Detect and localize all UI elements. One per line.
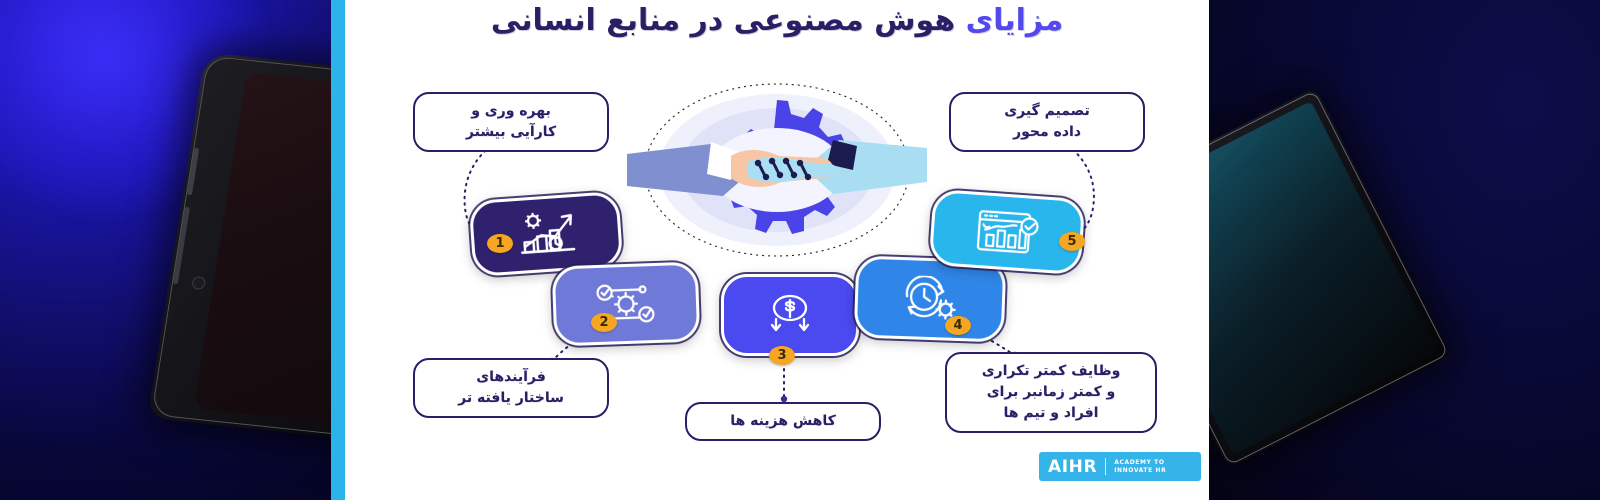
logo-divider: [1105, 458, 1106, 475]
logo-tagline-line-1: ACADEMY TO: [1114, 459, 1166, 467]
logo-tagline-line-2: INNOVATE HR: [1114, 467, 1166, 475]
callout-bubble-3[interactable]: فرآیندهای ساختار یافته تر: [413, 358, 609, 418]
bubble-1-line-1: بهره وری و: [425, 101, 597, 122]
badge-4: 4: [945, 316, 971, 335]
title-rest: هوش مصنوعی در منابع انسانی: [491, 3, 955, 38]
logo-tagline: ACADEMY TO INNOVATE HR: [1114, 459, 1166, 475]
bubble-4-line-1: کاهش هزینه ها: [697, 411, 869, 432]
badge-5: 5: [1059, 232, 1085, 251]
badge-2: 2: [591, 313, 617, 332]
cyan-divider: [331, 0, 345, 500]
hexagon-tile-2[interactable]: [552, 261, 701, 346]
infographic-canvas: BAmv Tim H مزایای هوش مصنوعی در منابع ان…: [0, 0, 1600, 500]
callout-bubble-1[interactable]: بهره وری و کارآیی بیشتر: [413, 92, 609, 152]
tablet-device: [1209, 88, 1451, 469]
growth-chart-gear-icon: [513, 209, 578, 259]
bubble-3-line-2: ساختار یافته تر: [425, 388, 597, 409]
bubble-1-line-2: کارآیی بیشتر: [425, 122, 597, 143]
page-title: مزایای هوش مصنوعی در منابع انسانی: [345, 2, 1209, 40]
tablet-bezel: [1209, 90, 1449, 465]
hexagon-tile-5[interactable]: [929, 189, 1086, 275]
callout-bubble-4[interactable]: کاهش هزینه ها: [685, 402, 881, 441]
right-background-panel: [1209, 0, 1600, 500]
hexagon-tile-3[interactable]: [721, 274, 859, 356]
badge-3: 3: [769, 346, 795, 365]
callout-bubble-5[interactable]: وظایف کمتر تکراری و کمتر زمانبر برای افر…: [945, 352, 1157, 433]
bubble-2-line-1: تصمیم گیری: [961, 101, 1133, 122]
bubble-3-line-1: فرآیندهای: [425, 367, 597, 388]
aihr-logo[interactable]: AIHR ACADEMY TO INNOVATE HR: [1039, 452, 1201, 481]
left-background-panel: BAmv Tim H: [0, 0, 331, 500]
bubble-2-line-2: داده محور: [961, 122, 1133, 143]
badge-1: 1: [487, 234, 513, 253]
callout-bubble-2[interactable]: تصمیم گیری داده محور: [949, 92, 1145, 152]
bubble-5-line-3: افراد و تیم ها: [957, 403, 1145, 424]
bubble-5-line-1: وظایف کمتر تکراری: [957, 361, 1145, 382]
infographic-board: مزایای هوش مصنوعی در منابع انسانی: [345, 0, 1209, 500]
logo-wordmark: AIHR: [1048, 457, 1097, 477]
title-highlight: مزایای: [966, 3, 1064, 38]
dollar-cost-down-icon: [763, 291, 817, 339]
bubble-5-line-2: و کمتر زمانبر برای: [957, 382, 1145, 403]
human-robot-handshake-gear-illustration: [627, 78, 927, 264]
analytics-dashboard-icon: [972, 207, 1041, 257]
